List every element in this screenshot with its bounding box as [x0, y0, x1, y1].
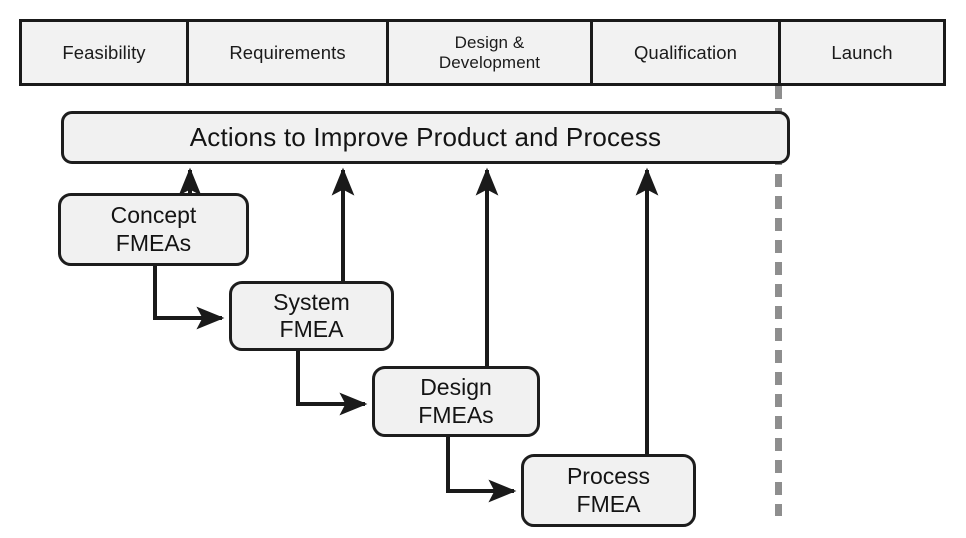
phase-label-feasibility: Feasibility — [62, 42, 145, 63]
phase-label-qualification: Qualification — [634, 42, 737, 63]
concept-fmeas-label-line1: Concept — [111, 202, 197, 229]
process-fmea-box[interactable]: Process FMEA — [521, 454, 696, 527]
phase-label-design-development: Design & Development — [439, 33, 540, 72]
phase-cell-qualification[interactable]: Qualification — [593, 22, 781, 83]
actions-to-improve-label: Actions to Improve Product and Process — [190, 122, 662, 153]
process-fmea-label-line2: FMEA — [567, 491, 650, 518]
design-fmeas-label: Design FMEAs — [418, 374, 493, 428]
concept-fmeas-box[interactable]: Concept FMEAs — [58, 193, 249, 266]
phase-label-launch: Launch — [831, 42, 892, 63]
system-fmea-box[interactable]: System FMEA — [229, 281, 394, 351]
design-fmeas-box[interactable]: Design FMEAs — [372, 366, 540, 437]
actions-to-improve-box[interactable]: Actions to Improve Product and Process — [61, 111, 790, 164]
arrow-design-to-process — [448, 437, 514, 491]
phase-cell-launch[interactable]: Launch — [781, 22, 943, 83]
phase-cell-requirements[interactable]: Requirements — [189, 22, 389, 83]
fmea-phase-diagram: Feasibility Requirements Design & Develo… — [0, 0, 966, 538]
system-fmea-label-line2: FMEA — [273, 316, 350, 343]
phase-label-requirements: Requirements — [229, 42, 345, 63]
concept-fmeas-label-line2: FMEAs — [111, 230, 197, 257]
phase-bar: Feasibility Requirements Design & Develo… — [19, 19, 946, 86]
design-fmeas-label-line1: Design — [418, 374, 493, 401]
system-fmea-label-line1: System — [273, 289, 350, 316]
phase-cell-feasibility[interactable]: Feasibility — [22, 22, 189, 83]
process-fmea-label-line1: Process — [567, 463, 650, 490]
system-fmea-label: System FMEA — [273, 289, 350, 343]
phase-cell-design-development[interactable]: Design & Development — [389, 22, 593, 83]
arrow-concept-to-system — [155, 266, 222, 318]
concept-fmeas-label: Concept FMEAs — [111, 202, 197, 256]
process-fmea-label: Process FMEA — [567, 463, 650, 517]
phase-label-design-development-line2: Development — [439, 53, 540, 73]
phase-label-design-development-line1: Design & — [439, 33, 540, 53]
arrow-system-to-design — [298, 351, 365, 404]
design-fmeas-label-line2: FMEAs — [418, 402, 493, 429]
